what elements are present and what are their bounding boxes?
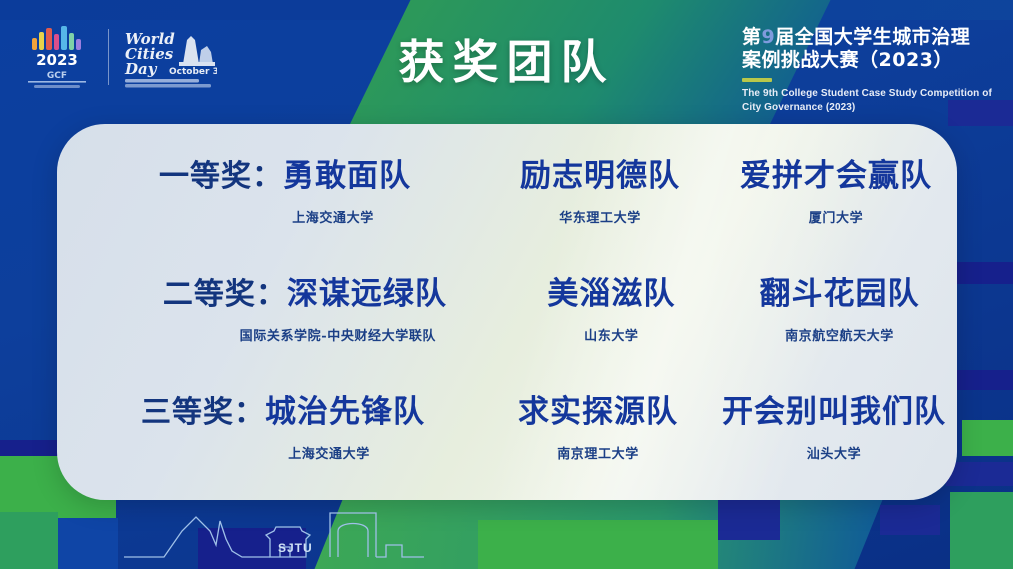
- team-name: 求实探源队: [518, 386, 678, 431]
- team-name: 翻斗花园队: [759, 268, 919, 313]
- award-cell: 三等奖： 城治先锋队 上海交通大学: [57, 386, 483, 462]
- prize-label: 一等奖：: [159, 151, 283, 195]
- bg-block-right-5: [880, 505, 940, 535]
- competition-title-cn: 第9届全国大学生城市治理: [742, 26, 997, 49]
- bg-block-right-3: [950, 370, 1013, 390]
- award-cell: 励志明德队 华东理工大学: [485, 150, 715, 226]
- slide-header: 2023 GCF World Cities Day October 31: [0, 0, 1013, 124]
- bg-block-left-green-2: [0, 512, 58, 569]
- bg-block-center-navy: [718, 500, 780, 540]
- title-accent-rule: [742, 78, 772, 82]
- team-name: 城治先锋队: [265, 386, 425, 431]
- team-name: 爱拼才会赢队: [740, 150, 932, 195]
- slide-root: 2023 GCF World Cities Day October 31: [0, 0, 1013, 569]
- team-school: 汕头大学: [713, 443, 955, 462]
- award-cell: 爱拼才会赢队 厦门大学: [715, 150, 957, 226]
- awards-card: 一等奖： 勇敢面队 上海交通大学 励志明德队 华东理工大学 爱拼才会赢队 厦门大…: [57, 124, 957, 500]
- prize-label: 三等奖：: [141, 387, 265, 431]
- team-school: 南京理工大学: [483, 443, 713, 462]
- bg-block-left-1: [0, 440, 58, 456]
- award-cell: 美淄滋队 山东大学: [501, 268, 722, 344]
- team-school: 山东大学: [501, 325, 722, 344]
- award-cell: 一等奖： 勇敢面队 上海交通大学: [57, 150, 485, 226]
- competition-title-cn-line2: 案例挑战大赛（2023）: [742, 49, 997, 72]
- team-name: 励志明德队: [520, 150, 680, 195]
- bg-block-right-green-1: [962, 420, 1013, 456]
- award-cell: 翻斗花园队 南京航空航天大学: [722, 268, 957, 344]
- team-school: 上海交通大学: [181, 207, 485, 226]
- competition-title-cn-pre: 第: [742, 26, 762, 48]
- award-cell: 开会别叫我们队 汕头大学: [713, 386, 955, 462]
- award-row-third-prize: 三等奖： 城治先锋队 上海交通大学 求实探源队 南京理工大学 开会别叫我们队 汕…: [57, 386, 957, 500]
- bg-block-left-2: [58, 518, 118, 569]
- sjtu-skyline-graphic: [124, 505, 424, 563]
- bg-block-center-green: [478, 520, 718, 569]
- team-school: 上海交通大学: [175, 443, 483, 462]
- team-school: 国际关系学院-中央财经大学联队: [175, 325, 501, 344]
- team-name: 美淄滋队: [547, 268, 675, 313]
- prize-label: 二等奖：: [163, 269, 287, 313]
- awards-list: 一等奖： 勇敢面队 上海交通大学 励志明德队 华东理工大学 爱拼才会赢队 厦门大…: [57, 124, 957, 500]
- team-school: 华东理工大学: [485, 207, 715, 226]
- bg-block-right-green-2: [950, 492, 1013, 569]
- team-name: 开会别叫我们队: [722, 386, 946, 431]
- competition-title-en-line2: City Governance (2023): [742, 101, 997, 115]
- award-row-second-prize: 二等奖： 深谋远绿队 国际关系学院-中央财经大学联队 美淄滋队 山东大学 翻斗花…: [57, 268, 957, 386]
- award-cell: 求实探源队 南京理工大学: [483, 386, 713, 462]
- competition-title-en-line1: The 9th College Student Case Study Compe…: [742, 87, 997, 101]
- team-school: 南京航空航天大学: [722, 325, 957, 344]
- competition-title-block: 第9届全国大学生城市治理 案例挑战大赛（2023） The 9th Colleg…: [742, 26, 997, 114]
- sjtu-skyline-icon: [124, 505, 424, 563]
- competition-title-cn-post: 届全国大学生城市治理: [775, 26, 970, 48]
- team-name: 勇敢面队: [283, 150, 411, 195]
- team-name: 深谋远绿队: [287, 268, 447, 313]
- award-cell: 二等奖： 深谋远绿队 国际关系学院-中央财经大学联队: [57, 268, 501, 344]
- team-school: 厦门大学: [715, 207, 957, 226]
- award-row-first-prize: 一等奖： 勇敢面队 上海交通大学 励志明德队 华东理工大学 爱拼才会赢队 厦门大…: [57, 150, 957, 268]
- sjtu-label: SJTU: [278, 541, 313, 555]
- competition-edition-number: 9: [762, 26, 776, 48]
